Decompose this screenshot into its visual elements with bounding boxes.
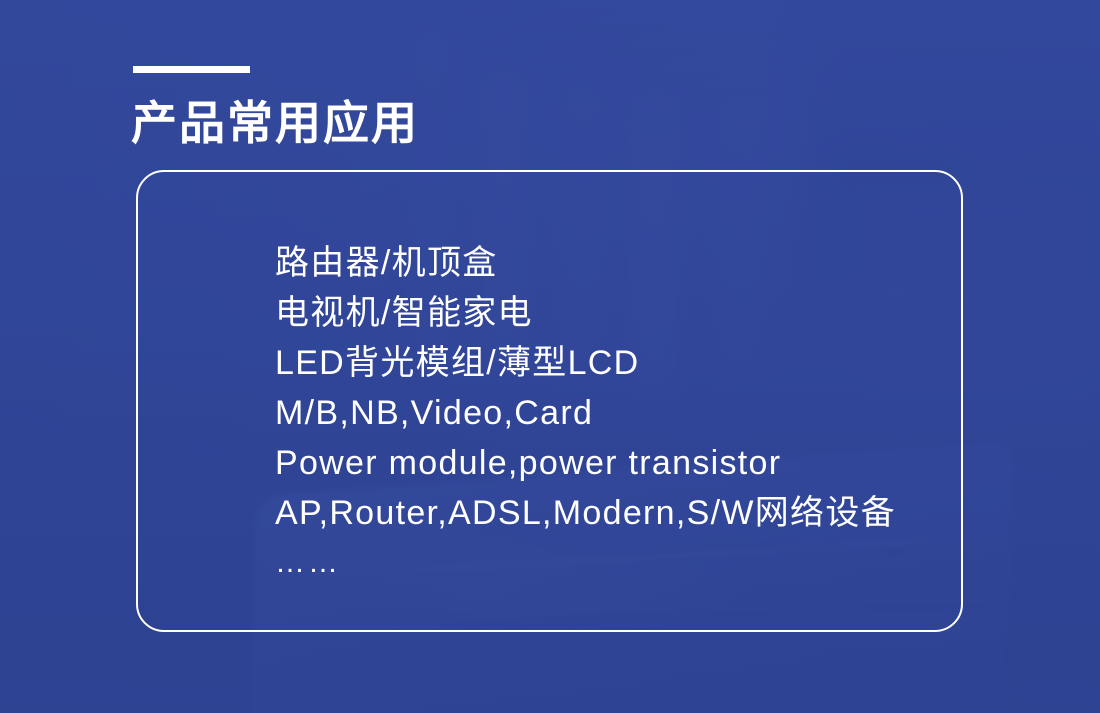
list-item: Power module,power transistor bbox=[275, 438, 975, 488]
banner-content: 产品常用应用 路由器/机顶盒 电视机/智能家电 LED背光模组/薄型LCD M/… bbox=[0, 0, 1100, 713]
applications-list: 路由器/机顶盒 电视机/智能家电 LED背光模组/薄型LCD M/B,NB,Vi… bbox=[275, 238, 975, 588]
list-item: M/B,NB,Video,Card bbox=[275, 388, 975, 438]
list-item-ellipsis: …… bbox=[275, 538, 975, 588]
list-item: 路由器/机顶盒 bbox=[275, 238, 975, 288]
list-item: AP,Router,ADSL,Modern,S/W网络设备 bbox=[275, 488, 975, 538]
title-accent-rule bbox=[133, 66, 250, 73]
list-item: 电视机/智能家电 bbox=[275, 288, 975, 338]
list-item: LED背光模组/薄型LCD bbox=[275, 338, 975, 388]
page-title: 产品常用应用 bbox=[131, 98, 419, 149]
product-application-banner: 产品常用应用 路由器/机顶盒 电视机/智能家电 LED背光模组/薄型LCD M/… bbox=[0, 0, 1100, 713]
